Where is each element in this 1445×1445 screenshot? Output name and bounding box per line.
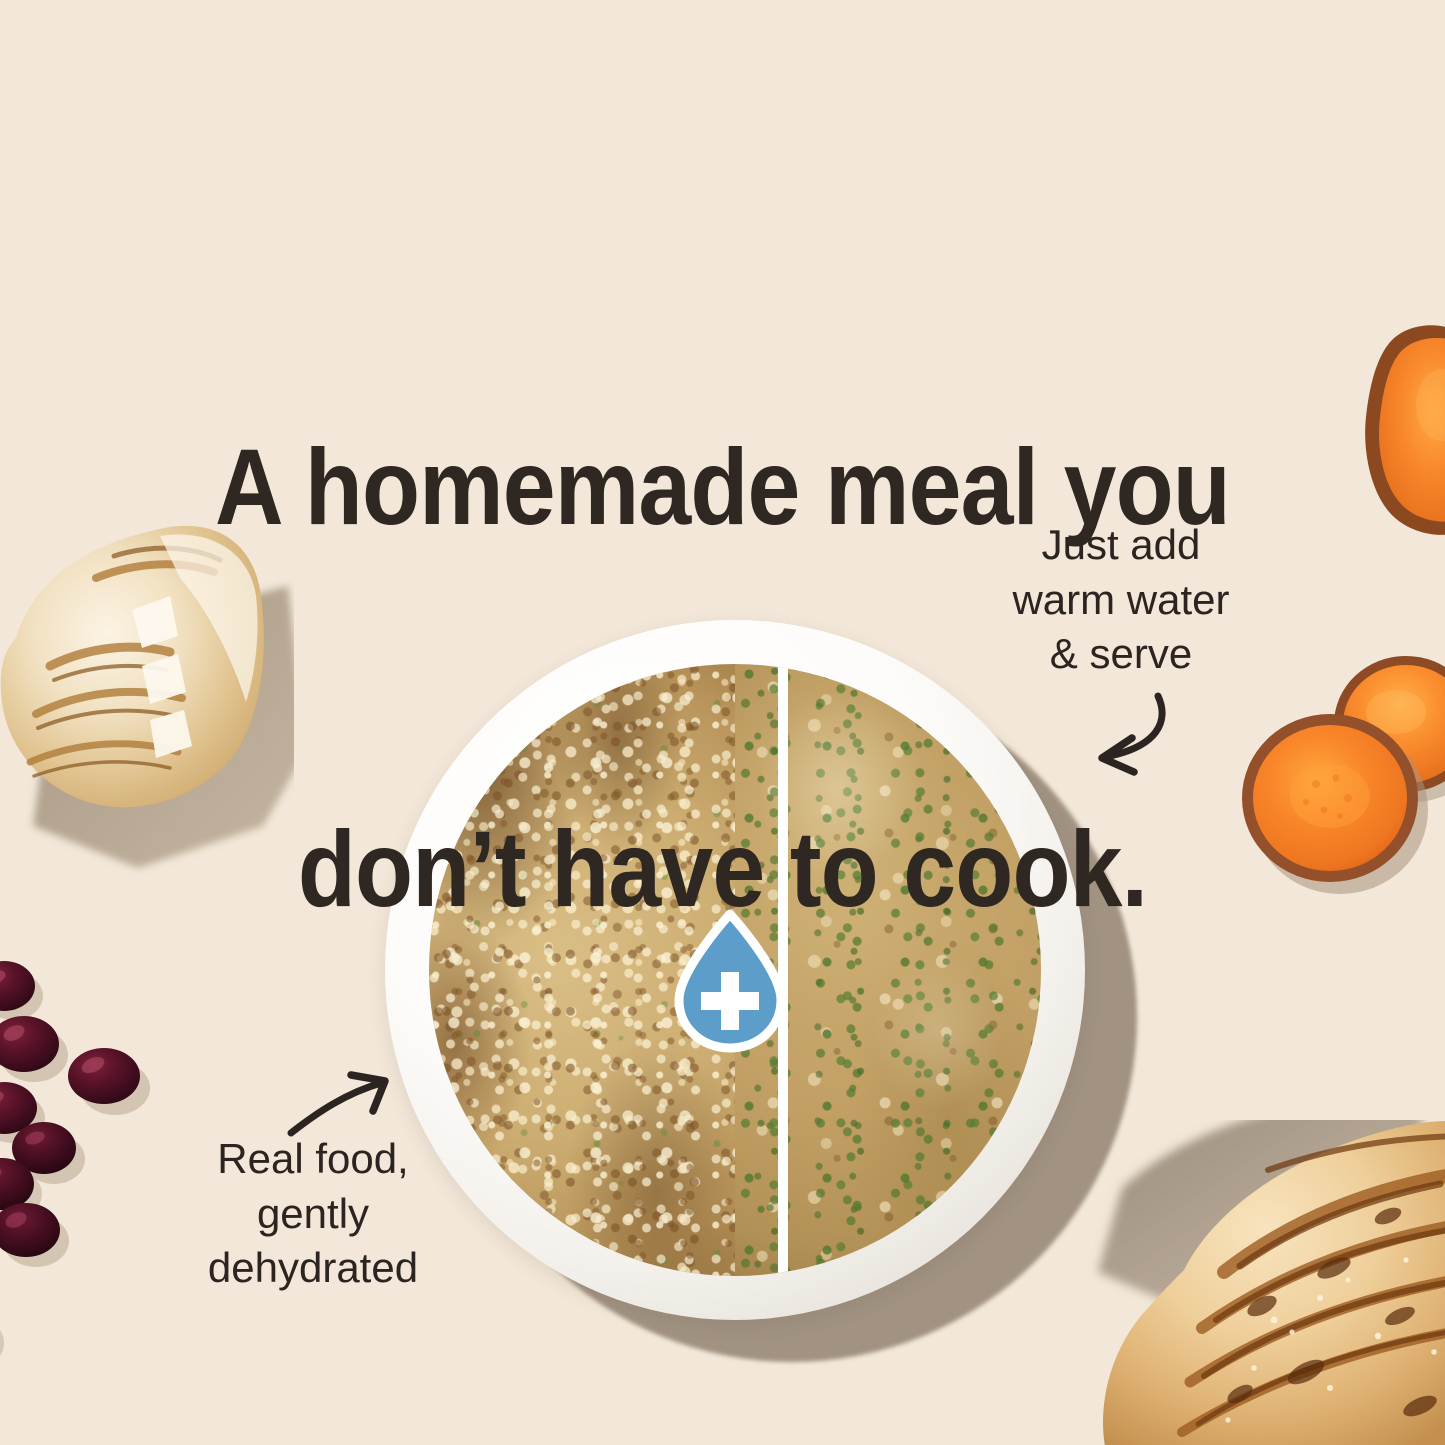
sweet-potato-slice [1356,325,1445,540]
product-hero-image: A homemade meal you don’t have to cook. … [0,0,1445,1445]
callout-just-add-warm-water: Just add warm water & serve [960,518,1282,682]
water-drop-plus-icon [665,908,795,1054]
curved-arrow-down-left-icon [1040,688,1190,783]
curved-arrow-up-right-icon [285,1055,405,1145]
callout-real-food-gently-dehydrated: Real food, gently dehydrated [163,1132,463,1296]
